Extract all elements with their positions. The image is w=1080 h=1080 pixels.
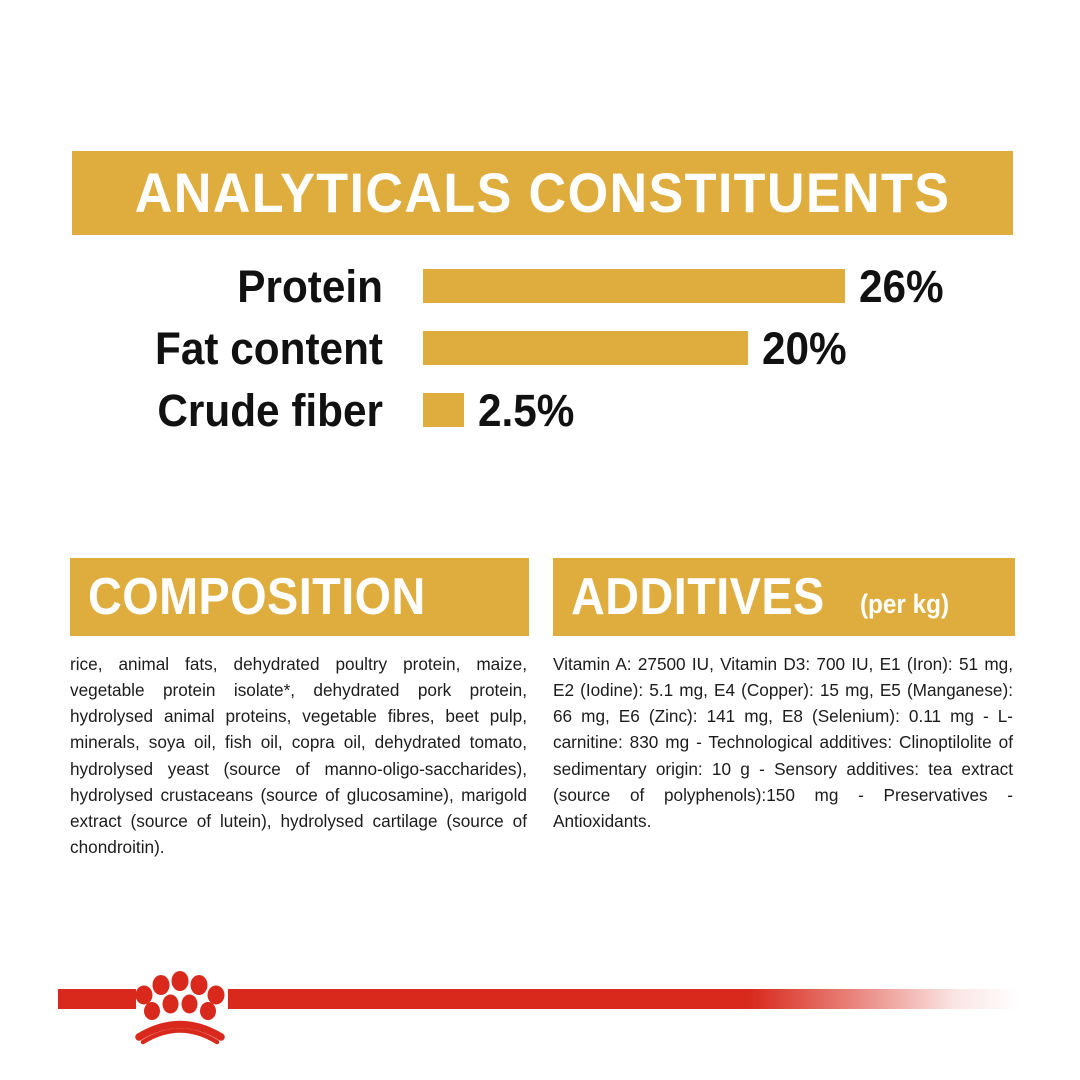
chart-row: Fat content 20% bbox=[72, 320, 1013, 376]
bar-value-protein: 26% bbox=[859, 264, 944, 309]
bar-protein bbox=[423, 269, 845, 303]
additives-panel: ADDITIVES (per kg) Vitamin A: 27500 IU, … bbox=[553, 558, 1015, 834]
footer-rule-left bbox=[58, 989, 136, 1009]
product-info-panel: { "analytical": { "header_title": "ANALY… bbox=[0, 0, 1080, 1080]
footer-brand-bar bbox=[0, 955, 1080, 1080]
analytical-constituents-bar-chart: Protein 26% Fat content 20% Crude fiber … bbox=[72, 258, 1013, 438]
additives-body-text: Vitamin A: 27500 IU, Vitamin D3: 700 IU,… bbox=[553, 651, 1015, 834]
analytical-constituents-header: ANALYTICALS CONSTITUENTS bbox=[72, 151, 1013, 235]
bar-label-protein: Protein bbox=[91, 264, 383, 309]
additives-header: ADDITIVES (per kg) bbox=[553, 558, 1015, 636]
composition-header: COMPOSITION bbox=[70, 558, 529, 636]
bar-value-fat-content: 20% bbox=[762, 326, 847, 371]
bar-group-fat-content: 20% bbox=[423, 326, 852, 371]
composition-title: COMPOSITION bbox=[88, 571, 426, 623]
bar-value-crude-fiber: 2.5% bbox=[478, 388, 574, 433]
royal-canin-crown-icon bbox=[130, 955, 230, 1047]
bar-group-protein: 26% bbox=[423, 264, 949, 309]
bar-crude-fiber bbox=[423, 393, 464, 427]
additives-title: ADDITIVES bbox=[571, 571, 825, 623]
chart-row: Protein 26% bbox=[72, 258, 1013, 314]
bar-label-crude-fiber: Crude fiber bbox=[91, 388, 383, 433]
bar-fat-content bbox=[423, 331, 748, 365]
additives-subtitle: (per kg) bbox=[860, 591, 949, 634]
bar-label-fat-content: Fat content bbox=[91, 326, 383, 371]
bar-group-crude-fiber: 2.5% bbox=[423, 388, 581, 433]
footer-rule-right bbox=[228, 989, 1018, 1009]
composition-body-text: rice, animal fats, dehydrated poultry pr… bbox=[70, 651, 529, 860]
analytical-constituents-title: ANALYTICALS CONSTITUENTS bbox=[135, 165, 951, 221]
chart-row: Crude fiber 2.5% bbox=[72, 382, 1013, 438]
composition-panel: COMPOSITION rice, animal fats, dehydrate… bbox=[70, 558, 529, 860]
